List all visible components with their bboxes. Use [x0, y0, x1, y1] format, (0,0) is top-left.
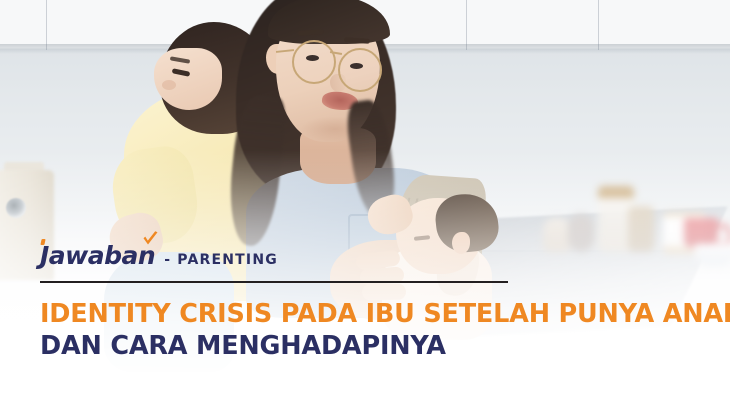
banner-text-overlay: Jawaban - PARENTING IDENTITY CRISIS PADA…: [0, 0, 730, 410]
brand-bar: Jawaban - PARENTING: [40, 243, 278, 269]
article-banner: Jawaban - PARENTING IDENTITY CRISIS PADA…: [0, 0, 730, 410]
orange-check-icon: [142, 231, 159, 248]
brand-category-label: - PARENTING: [164, 252, 278, 268]
headline-line-2: DAN CARA MENGHADAPINYA: [40, 330, 700, 362]
logo-wordmark: Jawaban: [40, 241, 155, 270]
brand-divider: [40, 281, 508, 283]
headline: IDENTITY CRISIS PADA IBU SETELAH PUNYA A…: [40, 298, 700, 362]
jawaban-logo[interactable]: Jawaban: [40, 243, 155, 269]
headline-line-1: IDENTITY CRISIS PADA IBU SETELAH PUNYA A…: [40, 298, 700, 330]
